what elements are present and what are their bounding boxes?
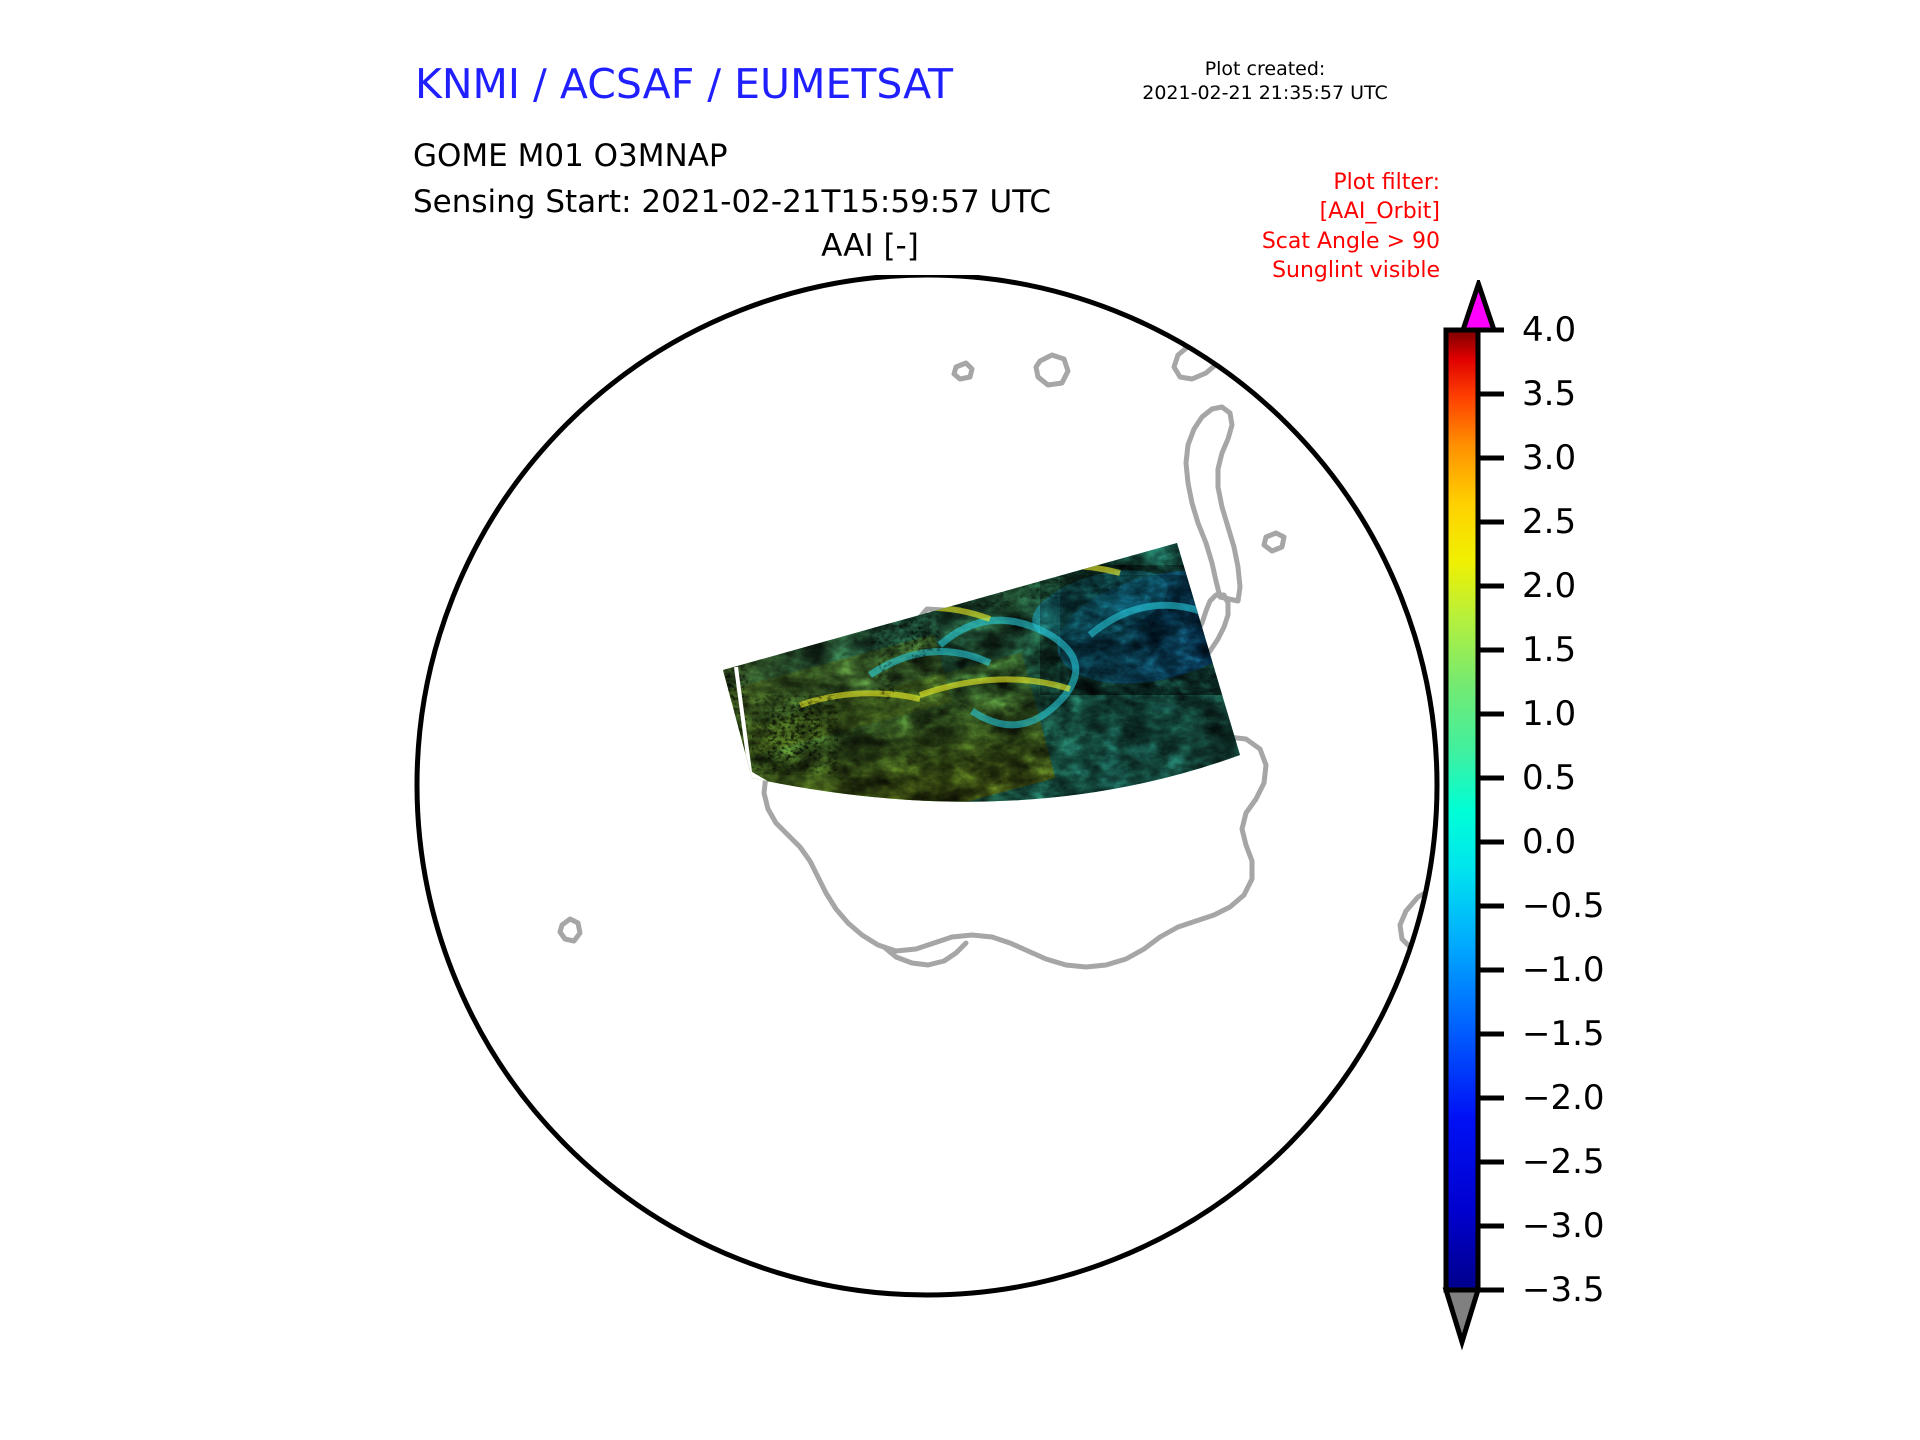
sensing-start: Sensing Start: 2021-02-21T15:59:57 UTC: [413, 184, 1051, 220]
colorbar: 4.0 3.5 3.0 2.5 2.0 1.5 1.0 0.5 0.0 −0.5…: [1430, 280, 1730, 1350]
plot-filter-line-1: Scat Angle > 90: [1100, 227, 1440, 256]
plot-filter-block: Plot filter: [AAI_Orbit] Scat Angle > 90…: [1100, 168, 1440, 285]
colorbar-tick-label-9: −0.5: [1522, 886, 1605, 926]
plot-created-block: Plot created: 2021-02-21 21:35:57 UTC: [1090, 58, 1440, 106]
plot-created-timestamp: 2021-02-21 21:35:57 UTC: [1090, 82, 1440, 106]
colorbar-tick-label-15: −3.5: [1522, 1270, 1605, 1310]
colorbar-tick-label-13: −2.5: [1522, 1142, 1605, 1182]
colorbar-over-arrow: [1463, 284, 1494, 330]
coastline-new-zealand-north: [1276, 275, 1302, 299]
map-panel: [400, 275, 1455, 1330]
plot-filter-line-0: [AAI_Orbit]: [1100, 197, 1440, 226]
organisation-title: KNMI / ACSAF / EUMETSAT: [415, 60, 953, 108]
colorbar-tick-label-1: 3.5: [1522, 374, 1576, 414]
plot-canvas: KNMI / ACSAF / EUMETSAT Plot created: 20…: [0, 0, 1920, 1440]
colorbar-tick-label-2: 3.0: [1522, 438, 1576, 478]
colorbar-under-arrow: [1446, 1290, 1478, 1342]
product-name: GOME M01 O3MNAP: [413, 138, 728, 174]
plot-created-label: Plot created:: [1090, 58, 1440, 82]
plot-filter-title: Plot filter:: [1100, 168, 1440, 197]
colorbar-tick-label-5: 1.5: [1522, 630, 1576, 670]
colorbar-tick-label-4: 2.0: [1522, 566, 1576, 606]
colorbar-tick-label-7: 0.5: [1522, 758, 1576, 798]
map-svg: [400, 275, 1455, 1330]
colorbar-gradient: [1446, 330, 1478, 1290]
colorbar-tick-label-12: −2.0: [1522, 1078, 1605, 1118]
colorbar-tick-label-10: −1.0: [1522, 950, 1605, 990]
colorbar-tick-label-14: −3.0: [1522, 1206, 1605, 1246]
colorbar-tick-label-0: 4.0: [1522, 310, 1576, 350]
colorbar-ticks: [1478, 330, 1504, 1290]
colorbar-tick-label-3: 2.5: [1522, 502, 1576, 542]
colorbar-tick-label-11: −1.5: [1522, 1014, 1605, 1054]
colorbar-tick-label-6: 1.0: [1522, 694, 1576, 734]
colorbar-tick-label-8: 0.0: [1522, 822, 1576, 862]
quantity-title: AAI [-]: [0, 228, 1870, 264]
quantity-title-text: AAI [-]: [821, 228, 919, 264]
